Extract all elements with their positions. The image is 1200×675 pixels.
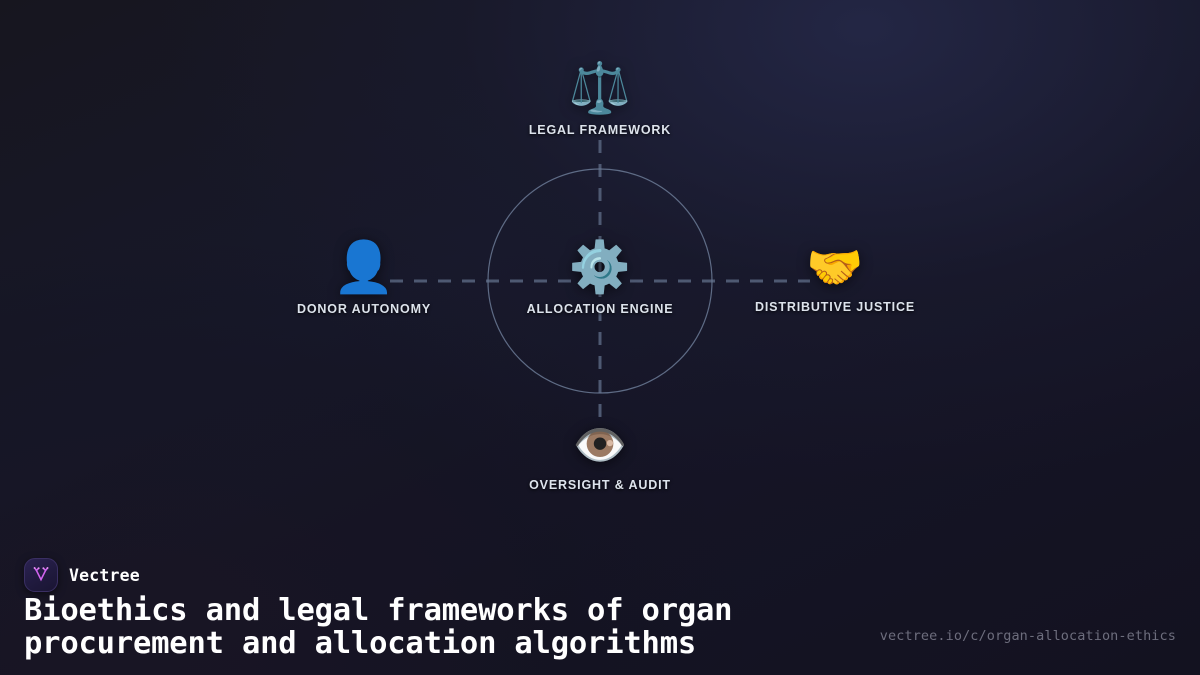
diagram-node-label: DISTRIBUTIVE JUSTICE	[755, 300, 915, 314]
person-bust-icon: 👤	[333, 242, 395, 292]
slide-canvas: ⚖️ LEGAL FRAMEWORK 👤 DONOR AUTONOMY ⚙️ A…	[0, 0, 1200, 675]
vectree-logo-icon	[24, 558, 58, 592]
footer: Vectree Bioethics and legal frameworks o…	[0, 520, 1200, 675]
page-title: Bioethics and legal frameworks of organ …	[24, 595, 904, 661]
eye-icon: 👁️	[573, 424, 628, 468]
diagram-node-legal[interactable]: ⚖️ LEGAL FRAMEWORK	[470, 63, 730, 137]
diagram-node-label: OVERSIGHT & AUDIT	[529, 478, 671, 492]
balance-scales-icon: ⚖️	[569, 63, 631, 113]
brand-lockup[interactable]: Vectree	[24, 558, 140, 592]
diagram-node-label: ALLOCATION ENGINE	[527, 302, 674, 316]
diagram-node-justice[interactable]: 🤝 DISTRIBUTIVE JUSTICE	[705, 244, 965, 314]
concept-diagram: ⚖️ LEGAL FRAMEWORK 👤 DONOR AUTONOMY ⚙️ A…	[0, 0, 1200, 520]
diagram-node-oversight[interactable]: 👁️ OVERSIGHT & AUDIT	[470, 424, 730, 492]
gear-icon: ⚙️	[569, 242, 631, 292]
diagram-node-label: LEGAL FRAMEWORK	[529, 123, 671, 137]
diagram-node-donor[interactable]: 👤 DONOR AUTONOMY	[234, 242, 494, 316]
brand-name: Vectree	[69, 566, 140, 585]
source-url: vectree.io/c/organ-allocation-ethics	[880, 628, 1176, 644]
handshake-icon: 🤝	[806, 244, 863, 290]
diagram-node-allocation-engine[interactable]: ⚙️ ALLOCATION ENGINE	[470, 242, 730, 316]
diagram-node-label: DONOR AUTONOMY	[297, 302, 431, 316]
